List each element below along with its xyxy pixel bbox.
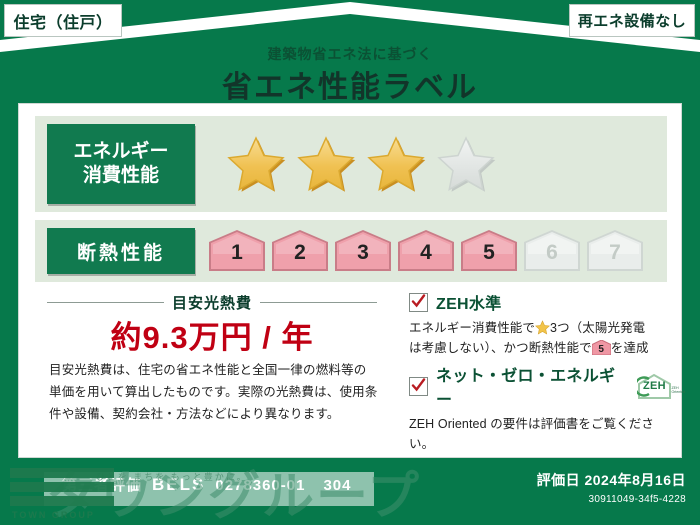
footer-third-party: 第三者評価 — [62, 474, 142, 495]
net-zero-energy-title: ネット・ゼロ・エネルギー — [436, 362, 629, 410]
star-empty-icon — [435, 134, 497, 194]
utility-cost-heading-text: 目安光熱費 — [172, 292, 252, 313]
grade-number: 6 — [522, 241, 582, 265]
checkbox-checked-icon[interactable] — [409, 377, 428, 396]
utility-cost-value: 約9.3万円 / 年 — [47, 312, 377, 357]
zeh-standard-head: ZEH水準 — [409, 290, 677, 314]
footer-eval-date-value: 2024年8月16日 — [584, 472, 686, 488]
grade-number: 2 — [270, 241, 330, 265]
label-card-inner: エネルギー 消費性能 断熱性能 1234567 目安光熱費 約9.3万円 / 年… — [27, 110, 673, 451]
rule-right — [260, 302, 377, 303]
grade-number: 4 — [396, 241, 456, 265]
label-subtitle: 建築物省エネ法に基づく — [0, 44, 700, 64]
insulation-performance-label: 断熱性能 — [47, 228, 195, 274]
label-footer: 第三者評価 BELS 0278360-01 304 評価日 2024年8月16日… — [0, 462, 700, 525]
inline-grade-badge: 5 — [592, 340, 611, 355]
zeh-standard-title: ZEH水準 — [436, 290, 502, 314]
energy-performance-label: エネルギー 消費性能 — [47, 124, 195, 204]
grade-badge-filled: 1 — [207, 229, 267, 273]
net-zero-energy-body: ZEH Oriented の要件は評価書をご覧ください。 — [409, 414, 677, 454]
tag-renewable-energy: 再エネ設備なし — [569, 4, 695, 37]
label-card: エネルギー 消費性能 断熱性能 1234567 目安光熱費 約9.3万円 / 年… — [18, 103, 682, 458]
checkbox-checked-icon[interactable] — [409, 293, 428, 312]
grade-badge-empty: 6 — [522, 229, 582, 273]
inline-star-icon — [535, 320, 550, 335]
zeh-standard-body-b: は考慮しない）、かつ断熱性能で — [409, 341, 592, 355]
footer-bels-number: 0278360-01 — [215, 477, 305, 494]
grade-badge-filled: 5 — [459, 229, 519, 273]
zeh-standard-star-count: 3つ（太陽光発電 — [550, 321, 645, 335]
grade-number: 5 — [459, 241, 519, 265]
grade-badge-filled: 3 — [333, 229, 393, 273]
star-filled-icon — [225, 134, 287, 194]
tag-building-type: 住宅（住戸） — [4, 4, 122, 37]
zeh-standard-block: ZEH水準 エネルギー消費性能で 3つ（太陽光発電 は考慮しない）、かつ断熱性能… — [409, 290, 677, 358]
insulation-performance-row: 断熱性能 1234567 — [35, 220, 667, 282]
grade-number: 1 — [207, 241, 267, 265]
footer-eval-info: 評価日 2024年8月16日 30911049-34f5-4228 — [537, 470, 686, 505]
label-title: 省エネ性能ラベル — [0, 62, 700, 106]
grade-number: 7 — [585, 241, 645, 265]
grade-badge-filled: 4 — [396, 229, 456, 273]
net-zero-energy-block: ネット・ゼロ・エネルギー ZEH ZEHOriented ZEH Oriente… — [409, 362, 677, 454]
tag-building-type-label: 住宅（住戸） — [13, 9, 112, 33]
utility-cost-note: 目安光熱費は、住宅の省エネ性能と全国一律の燃料等の単価を用いて算出したものです。… — [49, 360, 379, 426]
zeh-standard-body-c: を達成 — [611, 341, 649, 355]
energy-performance-label-line2: 消費性能 — [83, 164, 159, 188]
insulation-grade-scale: 1234567 — [207, 229, 645, 273]
footer-bels-label: BELS — [152, 475, 205, 495]
zeh-standard-body: エネルギー消費性能で 3つ（太陽光発電 は考慮しない）、かつ断熱性能で 5 を達… — [409, 318, 677, 358]
star-filled-icon — [295, 134, 357, 194]
inline-grade-number: 5 — [592, 342, 611, 358]
grade-number: 3 — [333, 241, 393, 265]
zeh-logo-subtext: ZEHOriented — [671, 386, 689, 395]
energy-performance-label-line1: エネルギー — [73, 140, 168, 164]
grade-badge-empty: 7 — [585, 229, 645, 273]
footer-bels-info: 第三者評価 BELS 0278360-01 304 — [62, 474, 351, 495]
zeh-standard-body-a: エネルギー消費性能で — [409, 321, 535, 335]
zeh-logo-icon: ZEH ZEHOriented — [637, 373, 677, 400]
grade-badge-filled: 2 — [270, 229, 330, 273]
energy-performance-row: エネルギー 消費性能 — [35, 116, 667, 212]
tag-renewable-energy-label: 再エネ設備なし — [578, 10, 687, 31]
energy-performance-label: 住宅（住戸） 再エネ設備なし 建築物省エネ法に基づく 省エネ性能ラベル エネルギ… — [0, 0, 700, 525]
star-rating — [225, 134, 497, 194]
zeh-logo-text: ZEH — [637, 380, 671, 392]
insulation-performance-label-text: 断熱性能 — [77, 238, 165, 265]
net-zero-energy-head: ネット・ゼロ・エネルギー ZEH ZEHOriented — [409, 362, 677, 410]
rule-left — [47, 302, 164, 303]
footer-eval-date: 評価日 2024年8月16日 — [537, 470, 686, 490]
utility-cost-heading: 目安光熱費 — [47, 292, 377, 313]
footer-serial-number: 304 — [323, 477, 351, 494]
footer-eval-date-label: 評価日 — [537, 472, 581, 488]
star-filled-icon — [365, 134, 427, 194]
footer-eval-id: 30911049-34f5-4228 — [537, 494, 686, 505]
